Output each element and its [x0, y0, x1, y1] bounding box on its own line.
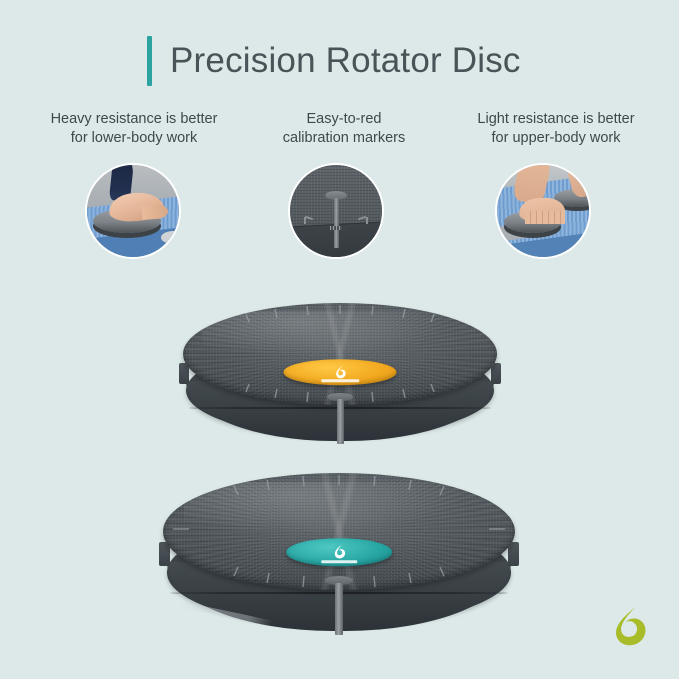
hub-label-strip [321, 560, 357, 563]
foot-on-disc-scene [87, 165, 179, 257]
disc-indicator-pointer [337, 399, 344, 444]
disc-platter-top [163, 473, 515, 590]
product-image-rotator-disc-teal [163, 473, 515, 645]
feature-image-foot-on-disc [85, 163, 181, 259]
page-title: Precision Rotator Disc [147, 36, 521, 86]
infographic-page: Precision Rotator Disc Heavy resistance … [0, 0, 679, 679]
platter-sheen [184, 482, 494, 540]
b-swoosh-logo-icon [315, 544, 364, 561]
platter-sheen [202, 311, 478, 362]
b-swoosh-logo-icon [314, 364, 366, 380]
disc-indicator-pointer [335, 583, 343, 635]
calibration-tick-marks [163, 473, 515, 590]
page-title-text: Precision Rotator Disc [170, 36, 521, 86]
feature-caption-right: Light resistance is better for upper-bod… [442, 110, 670, 148]
feature-caption-middle: Easy-to-red calibration markers [248, 110, 440, 148]
hands-on-discs-scene [497, 165, 589, 257]
calibration-scale [330, 226, 343, 231]
disc-hub-teal [286, 538, 392, 566]
feature-caption-left: Heavy resistance is better for lower-bod… [18, 110, 250, 148]
fingers [525, 211, 565, 224]
feature-image-calibration-markers [288, 163, 384, 259]
title-accent-bar [147, 36, 152, 86]
feature-image-hands-on-discs [495, 163, 591, 259]
calibration-tick-right-upright [366, 217, 368, 224]
calibration-tick-left-upright [304, 217, 306, 224]
hub-label-strip [321, 380, 359, 383]
platter-cross-highlight [183, 303, 497, 405]
disc-platter-top [183, 303, 497, 405]
calibration-closeup-scene [290, 165, 382, 257]
calibration-tick-marks [183, 303, 497, 405]
indicator-pointer [334, 198, 339, 248]
disc-hub-orange [283, 359, 396, 385]
product-image-rotator-disc-orange [183, 303, 497, 453]
brand-logo-icon [607, 604, 651, 648]
platter-cross-highlight [163, 473, 515, 590]
